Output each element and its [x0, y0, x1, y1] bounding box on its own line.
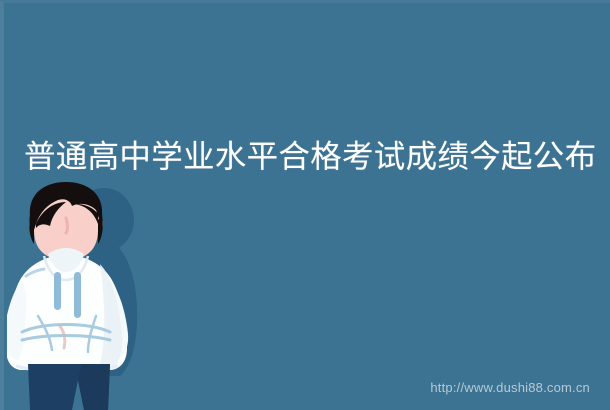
source-watermark: http://www.dushi88.com.cn: [430, 380, 590, 396]
news-banner-image: 普通高中学业水平合格考试成绩今起公布 http://www.dushi88.co…: [0, 0, 610, 410]
student-illustration: [0, 180, 200, 410]
headline-text: 普通高中学业水平合格考试成绩今起公布: [24, 133, 604, 179]
student-illustration-svg: [0, 180, 200, 410]
image-border-inner: [4, 3, 7, 410]
figure-pants: [28, 364, 110, 410]
